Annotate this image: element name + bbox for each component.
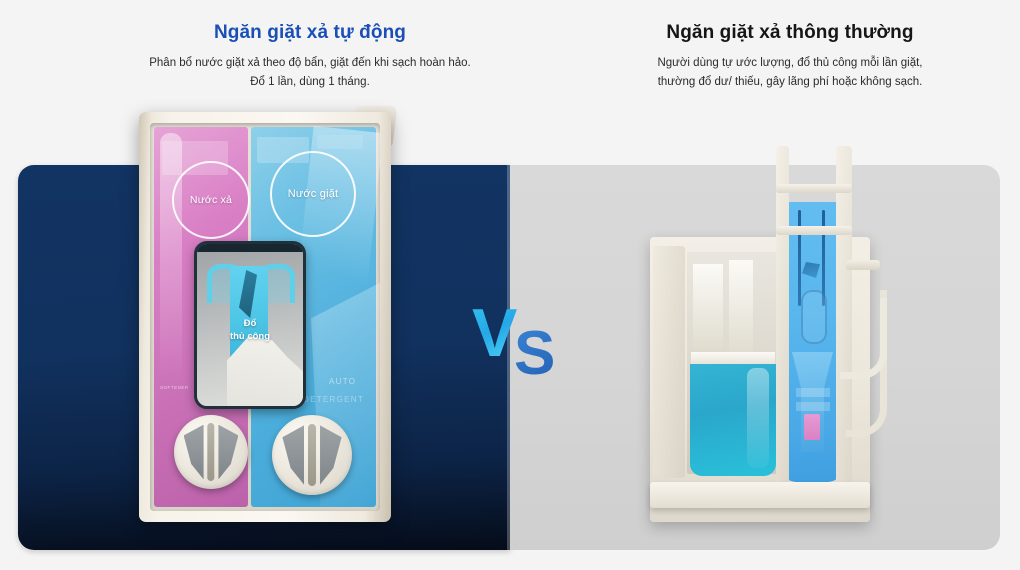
softener-callout-label: Nước xả bbox=[190, 194, 232, 206]
right-heading-description: Người dùng tự ước lượng, đổ thủ công mỗi… bbox=[560, 54, 1020, 92]
right-heading-block: Ngăn giặt xả thông thường Người dùng tự … bbox=[560, 22, 1020, 92]
module-top-edge bbox=[197, 244, 303, 252]
detergent-tank-sheen-b bbox=[317, 135, 363, 149]
detergent-auto-text: AUTO bbox=[329, 377, 356, 386]
comparison-figure: Ngăn giặt xả tự động Phân bổ nước giặt x… bbox=[0, 0, 1020, 570]
partition-a bbox=[693, 264, 723, 350]
column-softener-residue bbox=[804, 414, 820, 440]
frame-rung-middle bbox=[776, 226, 852, 235]
drawer-shell: SOFTENER AUTO LIQUID ONLY DETERGENT Nước… bbox=[139, 112, 391, 522]
detergent-callout-label: Nước giặt bbox=[288, 188, 339, 200]
right-description-line-2: thường đổ dư/ thiếu, gây lãng phí hoặc k… bbox=[560, 73, 1020, 92]
detergent-callout: Nước giặt bbox=[270, 151, 356, 237]
drawer-well: SOFTENER AUTO LIQUID ONLY DETERGENT Nước… bbox=[150, 123, 380, 511]
softener-callout: Nước xả bbox=[172, 161, 250, 239]
auto-dispenser-drawer-image: SOFTENER AUTO LIQUID ONLY DETERGENT Nước… bbox=[139, 112, 391, 522]
conventional-left-liquid bbox=[690, 364, 776, 476]
partition-b bbox=[729, 260, 753, 356]
right-description-line-1: Người dùng tự ước lượng, đổ thủ công mỗi… bbox=[560, 54, 1020, 73]
frame-rung-top bbox=[776, 184, 852, 193]
detergent-cap-slot bbox=[308, 424, 316, 486]
column-step-a bbox=[796, 388, 830, 397]
column-nub bbox=[802, 262, 820, 278]
conventional-center-column bbox=[782, 202, 842, 482]
frame-arm-left bbox=[776, 146, 789, 484]
softener-cap bbox=[174, 415, 248, 489]
column-rail-left bbox=[798, 210, 801, 306]
right-hook-inner bbox=[840, 298, 887, 379]
conventional-tray-lip bbox=[650, 482, 870, 508]
manual-pour-label-line-1: Đổ bbox=[197, 318, 303, 331]
manual-pour-label: Đổ thủ công bbox=[197, 318, 303, 344]
left-heading-title: Ngăn giặt xả tự động bbox=[60, 22, 560, 45]
softener-cap-wing-left bbox=[184, 425, 204, 480]
detergent-cap-wing-left bbox=[282, 425, 304, 484]
left-heading-block: Ngăn giặt xả tự động Phân bổ nước giặt x… bbox=[60, 22, 560, 92]
softener-cap-wing-right bbox=[218, 425, 238, 480]
detergent-label-text: DETERGENT bbox=[303, 395, 364, 404]
softener-micro-text: SOFTENER bbox=[160, 385, 189, 390]
column-oval bbox=[801, 290, 827, 344]
right-bar bbox=[846, 260, 880, 270]
manual-pour-module: Đổ thủ công bbox=[194, 241, 306, 409]
detergent-cap bbox=[272, 415, 352, 495]
softener-cap-slot bbox=[207, 423, 214, 481]
manual-pour-label-line-2: thủ công bbox=[197, 331, 303, 344]
conventional-dispenser-drawer-image bbox=[640, 142, 880, 522]
column-step-b bbox=[796, 402, 830, 411]
left-description-line-1: Phân bổ nước giặt xả theo độ bẩn, giặt đ… bbox=[60, 54, 560, 73]
left-description-line-2: Đổ 1 lần, dùng 1 tháng. bbox=[60, 73, 560, 92]
right-heading-title: Ngăn giặt xả thông thường bbox=[560, 22, 1020, 45]
conventional-tray-flap bbox=[653, 246, 685, 478]
detergent-cap-wing-right bbox=[320, 425, 342, 484]
left-heading-description: Phân bổ nước giặt xả theo độ bẩn, giặt đ… bbox=[60, 54, 560, 92]
